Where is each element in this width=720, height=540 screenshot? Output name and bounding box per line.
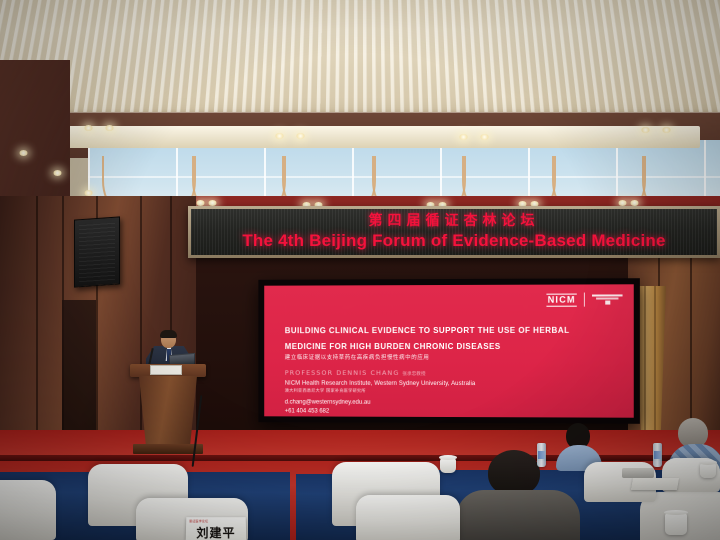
presentation-slide: NICM BUILDING CLINICAL EVIDENCE TO SUPPO… bbox=[264, 284, 634, 417]
presenter-glasses-icon bbox=[162, 337, 175, 341]
podium-name-card bbox=[150, 365, 182, 375]
western-sydney-university-logo bbox=[592, 295, 623, 305]
tea-cup-lid bbox=[699, 460, 717, 465]
tea-cup-lid bbox=[439, 455, 457, 460]
downlight-icon bbox=[84, 125, 93, 131]
skylight bbox=[88, 140, 720, 200]
downlight-icon bbox=[641, 127, 650, 133]
nicm-logo: NICM bbox=[547, 293, 577, 306]
audience-person-foreground bbox=[462, 450, 570, 540]
tea-cup-icon bbox=[440, 458, 456, 473]
audience-torso bbox=[456, 490, 580, 540]
logo-divider bbox=[584, 293, 585, 307]
banner-title-chinese: 第四届循证杏林论坛 bbox=[369, 214, 540, 228]
skylight-arc bbox=[282, 156, 376, 200]
slide-affiliation: NICM Health Research Institute, Western … bbox=[285, 381, 476, 387]
slide-title-line1: BUILDING CLINICAL EVIDENCE TO SUPPORT TH… bbox=[285, 323, 615, 339]
pa-speaker-icon bbox=[74, 216, 120, 287]
tea-cup-icon bbox=[665, 513, 687, 535]
skylight-arc bbox=[102, 156, 196, 200]
led-banner: 第四届循证杏林论坛 The 4th Beijing Forum of Evide… bbox=[188, 206, 720, 258]
placard-logo: 循证医学论坛 bbox=[189, 519, 208, 523]
wall-panel-dark bbox=[62, 300, 96, 430]
water-bottle-icon bbox=[537, 443, 546, 467]
device bbox=[622, 468, 654, 478]
slide-title-line2: MEDICINE FOR HIGH BURDEN CHRONIC DISEASE… bbox=[285, 338, 615, 354]
downlight-icon bbox=[105, 125, 114, 131]
chair bbox=[0, 480, 56, 540]
water-bottle-icon bbox=[653, 443, 662, 467]
slide-affiliation-chinese: 澳大利亚西悉尼大学 国家补充医学研究所 bbox=[285, 388, 366, 394]
banner-title-english: The 4th Beijing Forum of Evidence-Based … bbox=[242, 231, 665, 251]
conference-hall-photo: 第四届循证杏林论坛 The 4th Beijing Forum of Evide… bbox=[0, 0, 720, 540]
slide-title: BUILDING CLINICAL EVIDENCE TO SUPPORT TH… bbox=[285, 323, 615, 354]
slide-presenter: PROFESSOR DENNIS CHANG 张承忠教授 bbox=[285, 369, 426, 377]
skylight-frame bbox=[60, 126, 700, 148]
chair bbox=[356, 495, 460, 540]
podium-body bbox=[139, 376, 197, 446]
downlight-icon bbox=[296, 133, 305, 139]
downlight-icon bbox=[19, 150, 28, 156]
slide-logo-group: NICM bbox=[547, 292, 623, 306]
downlight-icon bbox=[275, 133, 284, 139]
ceiling-cove-upper bbox=[0, 0, 720, 120]
tea-cup-icon bbox=[700, 463, 716, 478]
skylight-arc bbox=[372, 156, 466, 200]
downlight-icon bbox=[53, 170, 62, 176]
skylight-arc bbox=[642, 156, 720, 200]
downlight-icon bbox=[459, 134, 468, 140]
led-banner-screen: 第四届循证杏林论坛 The 4th Beijing Forum of Evide… bbox=[191, 209, 717, 255]
ceiling-left-return bbox=[0, 60, 70, 200]
skylight-arc bbox=[192, 156, 286, 200]
slide-contact: d.chang@westernsydney.edu.au +61 404 453… bbox=[285, 399, 371, 417]
name-placard: 循证医学论坛 刘建平 bbox=[186, 517, 247, 540]
tea-cup-lid bbox=[664, 510, 688, 515]
slide-email: d.chang@westernsydney.edu.au bbox=[285, 399, 371, 408]
downlight-icon bbox=[480, 134, 489, 140]
skylight-arc bbox=[552, 156, 646, 200]
documents bbox=[631, 478, 679, 490]
slide-title-chinese: 建立临床证据以支持草药在高疾病负担慢性病中的应用 bbox=[285, 353, 430, 361]
ceiling bbox=[0, 0, 720, 200]
slide-phone: +61 404 453 682 bbox=[285, 407, 371, 416]
projection-screen: NICM BUILDING CLINICAL EVIDENCE TO SUPPO… bbox=[258, 278, 640, 424]
placard-name: 刘建平 bbox=[186, 524, 247, 540]
skylight-arc bbox=[462, 156, 556, 200]
speaker-grill bbox=[79, 222, 115, 283]
ceiling-fluting bbox=[0, 0, 720, 120]
downlight-icon bbox=[662, 127, 671, 133]
slide-presenter-chinese: 张承忠教授 bbox=[402, 372, 425, 377]
